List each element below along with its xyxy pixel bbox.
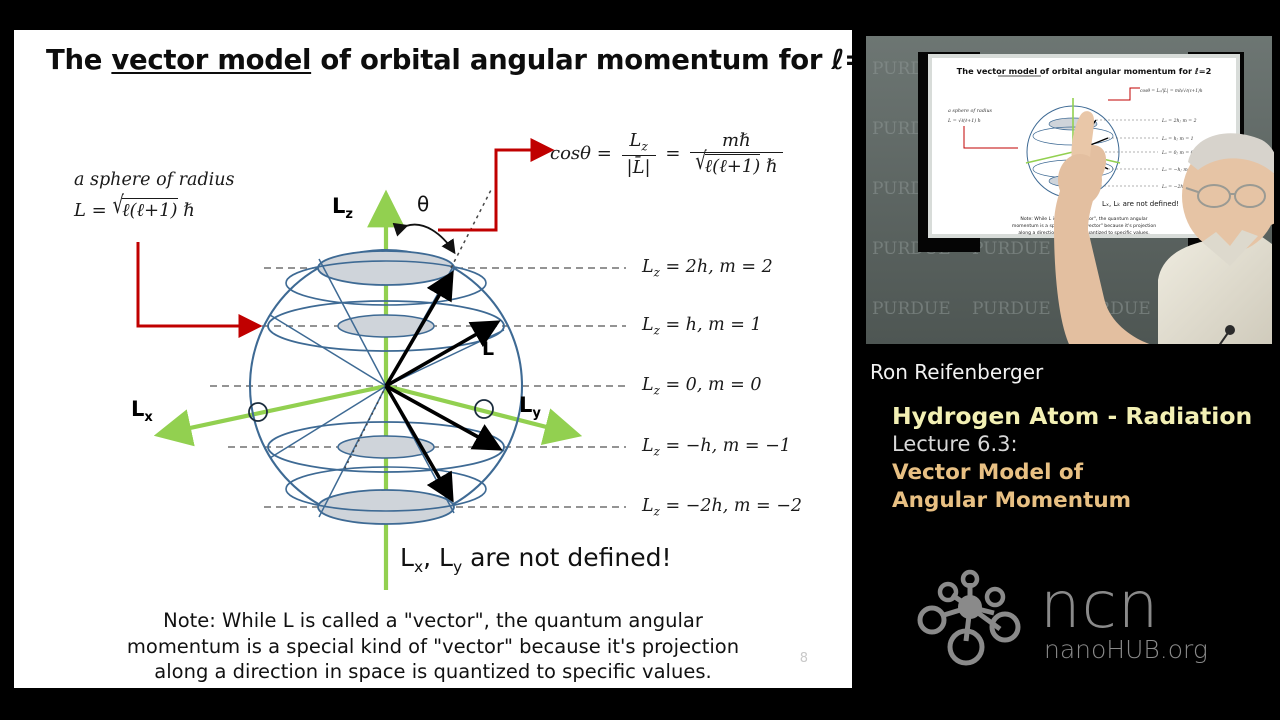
svg-text:Lₒ = ℎ; m = 1: Lₒ = ℎ; m = 1 xyxy=(1161,136,1194,142)
svg-text:PURDUE: PURDUE xyxy=(872,299,951,319)
undefined-lx: L xyxy=(400,543,414,572)
level-label-m0-text: Lz = 0, m = 0 xyxy=(642,375,761,395)
axis-label-lz-text: L xyxy=(332,194,345,218)
lecture-metadata: Ron Reifenberger Hydrogen Atom - Radiati… xyxy=(858,356,1280,536)
logo-wordmark: ncn xyxy=(1040,569,1159,643)
axis-label-lx: Lx xyxy=(131,397,153,425)
axis-label-ly-sub: y xyxy=(532,406,540,421)
course-title: Hydrogen Atom - Radiation xyxy=(892,402,1252,430)
axis-label-lz: Lz xyxy=(332,194,353,222)
callout-formula xyxy=(438,150,550,230)
undefined-note: Lx, Ly are not defined! xyxy=(400,543,672,576)
vector-model-diagram xyxy=(14,30,852,688)
axis-label-ly: Ly xyxy=(519,393,541,421)
svg-text:Lₒ = 2ℎ; m = 2: Lₒ = 2ℎ; m = 2 xyxy=(1161,118,1197,124)
lecture-subject-line1: Vector Model of xyxy=(892,460,1083,485)
undefined-note-text: are not defined! xyxy=(470,543,671,572)
nanohub-logo[interactable]: ncn nanoHUB.org xyxy=(900,565,1260,675)
level-label-m2-text: Lz = 2ℎ, m = 2 xyxy=(642,257,773,277)
footer-note-line1: Note: While L is called a "vector", the … xyxy=(14,608,852,634)
lecture-video[interactable]: PURDUE PURDUE PURDUE PURDUE PURDUE PURDU… xyxy=(858,30,1280,350)
undefined-lx-sub: x xyxy=(414,558,423,576)
svg-text:Lₒ = 0; m = 0: Lₒ = 0; m = 0 xyxy=(1161,150,1194,156)
svg-text:The vector model of orbital an: The vector model of orbital angular mome… xyxy=(957,66,1212,76)
axis-label-lx-text: L xyxy=(131,397,144,421)
level-label-m1-text: Lz = ℎ, m = 1 xyxy=(642,315,762,335)
undefined-ly-sub: y xyxy=(453,558,462,576)
axis-label-ly-text: L xyxy=(519,393,532,417)
level-label-m2: Lz = 2ℎ, m = 2 xyxy=(642,257,773,280)
logo-site-name: nanoHUB.org xyxy=(1044,635,1208,664)
lecture-number: Lecture 6.3: xyxy=(892,432,1018,456)
lecture-subject-line2: Angular Momentum xyxy=(892,488,1131,513)
axis-ly xyxy=(386,386,574,434)
footer-note-line2: momentum is a special kind of "vector" b… xyxy=(14,634,852,660)
vector-label-L: L xyxy=(482,338,494,360)
presenter-name: Ron Reifenberger xyxy=(870,360,1043,384)
logo-art: ncn nanoHUB.org xyxy=(900,565,1260,675)
svg-text:PURDUE: PURDUE xyxy=(972,239,1051,259)
ring-m2 xyxy=(318,251,454,285)
svg-text:a sphere of radius: a sphere of radius xyxy=(948,108,993,114)
slide-panel: The vector model of orbital angular mome… xyxy=(14,30,852,688)
level-label-mneg2-text: Lz = −2ℎ, m = −2 xyxy=(642,496,802,516)
level-label-mneg1: Lz = −ℎ, m = −1 xyxy=(642,436,791,459)
video-frame-art: PURDUE PURDUE PURDUE PURDUE PURDUE PURDU… xyxy=(858,30,1280,350)
level-label-mneg1-text: Lz = −ℎ, m = −1 xyxy=(642,436,791,456)
network-node-icon xyxy=(920,572,1018,663)
level-label-m1: Lz = ℎ, m = 1 xyxy=(642,315,762,338)
undefined-ly: L xyxy=(439,543,453,572)
level-label-mneg2: Lz = −2ℎ, m = −2 xyxy=(642,496,802,519)
svg-text:cosθ = Lₒ/|L| = mℎ/√ℓ(ℓ+1)ℎ: cosθ = Lₒ/|L| = mℎ/√ℓ(ℓ+1)ℎ xyxy=(1140,88,1203,94)
page-number: 8 xyxy=(800,651,808,666)
level-label-m0: Lz = 0, m = 0 xyxy=(642,375,761,398)
axis-label-lz-sub: z xyxy=(345,207,353,222)
axis-label-lx-sub: x xyxy=(144,410,152,425)
ring-mneg2 xyxy=(318,490,454,524)
player-stage: The vector model of orbital angular mome… xyxy=(0,0,1280,720)
svg-text:Lₓ, Lₖ are not defined!: Lₓ, Lₖ are not defined! xyxy=(1102,200,1179,208)
callout-radius xyxy=(138,242,258,326)
theta-label: θ xyxy=(417,192,429,216)
footer-note: Note: While L is called a "vector", the … xyxy=(14,608,852,685)
svg-text:L = √ℓ(ℓ+1) ℎ: L = √ℓ(ℓ+1) ℎ xyxy=(947,117,981,124)
footer-note-line3: along a direction in space is quantized … xyxy=(14,659,852,685)
svg-text:PURDUE: PURDUE xyxy=(972,299,1051,319)
axis-lx xyxy=(162,386,386,434)
